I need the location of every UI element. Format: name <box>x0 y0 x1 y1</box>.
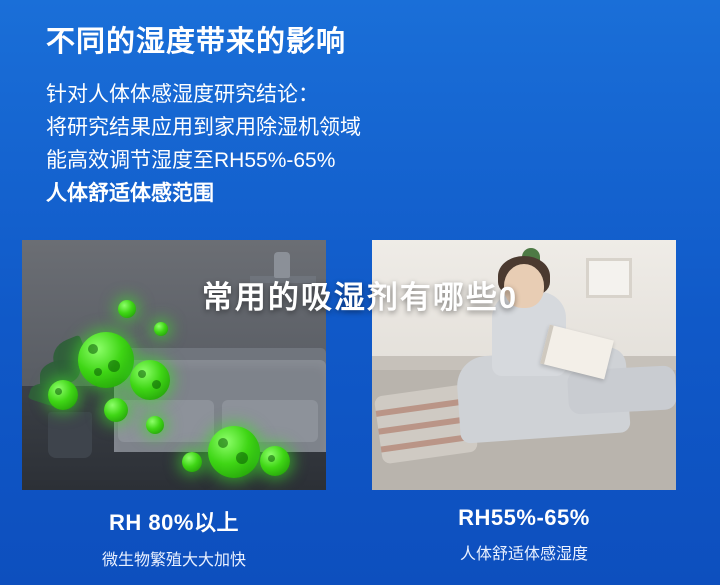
left-caption: RH 80%以上 微生物繁殖大大加快 <box>22 505 326 570</box>
body-line-4: 人体舒适体感范围 <box>46 177 361 210</box>
page-title: 不同的湿度带来的影响 <box>46 18 346 60</box>
body-line-2: 将研究结果应用到家用除湿机领域 <box>46 111 361 144</box>
left-caption-title: RH 80%以上 <box>22 505 326 537</box>
right-caption: RH55%-65% 人体舒适体感湿度 <box>372 505 676 564</box>
body-text: 针对人体体感湿度研究结论： 将研究结果应用到家用除湿机领域 能高效调节湿度至RH… <box>46 78 361 210</box>
poster-canvas: 不同的湿度带来的影响 针对人体体感湿度研究结论： 将研究结果应用到家用除湿机领域… <box>0 0 720 585</box>
plant-pot <box>48 412 92 458</box>
microbe-icon <box>154 322 168 336</box>
right-caption-title: RH55%-65% <box>372 505 676 531</box>
microbe-icon <box>78 332 134 388</box>
body-line-3: 能高效调节湿度至RH55%-65% <box>46 144 361 177</box>
microbe-icon <box>104 398 128 422</box>
microbe-icon <box>182 452 202 472</box>
microbe-icon <box>260 446 290 476</box>
left-caption-sub: 微生物繁殖大大加快 <box>22 546 326 570</box>
microbe-icon <box>146 416 164 434</box>
microbe-icon <box>48 380 78 410</box>
body-line-1: 针对人体体感湿度研究结论： <box>46 78 361 111</box>
microbe-icon <box>130 360 170 400</box>
right-caption-sub: 人体舒适体感湿度 <box>372 540 676 564</box>
banner-headline: 常用的吸湿剂有哪些0 <box>0 272 720 317</box>
microbe-icon <box>208 426 260 478</box>
